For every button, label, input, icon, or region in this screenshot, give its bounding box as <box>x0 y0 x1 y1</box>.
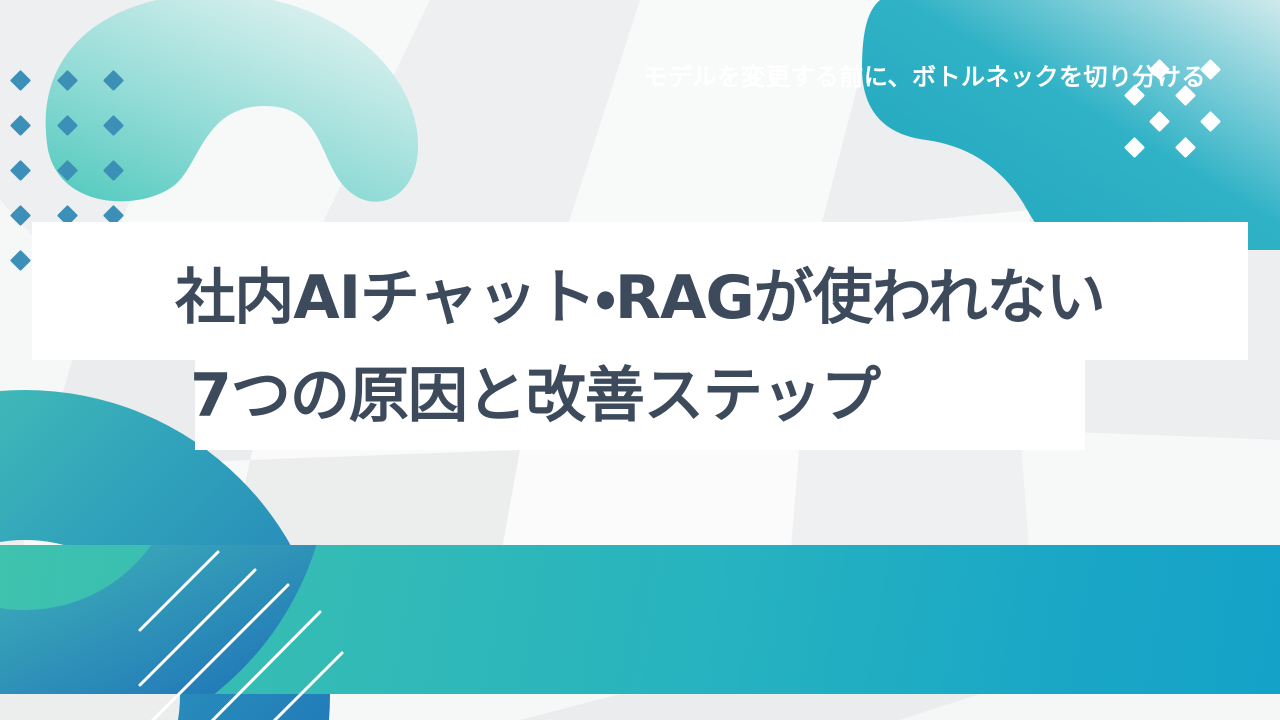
page-title-line-1: 社内AIチャット・RAGが使われない <box>0 249 1280 336</box>
title-slide: 社内AIチャット・RAGが使われない 7つの原因と改善ステップ モデルを変更する… <box>0 0 1280 720</box>
slide-subtitle: モデルを変更する前に、ボトルネックを切り分ける <box>643 0 1206 149</box>
page-title-line-2: 7つの原因と改善ステップ <box>0 347 1175 434</box>
